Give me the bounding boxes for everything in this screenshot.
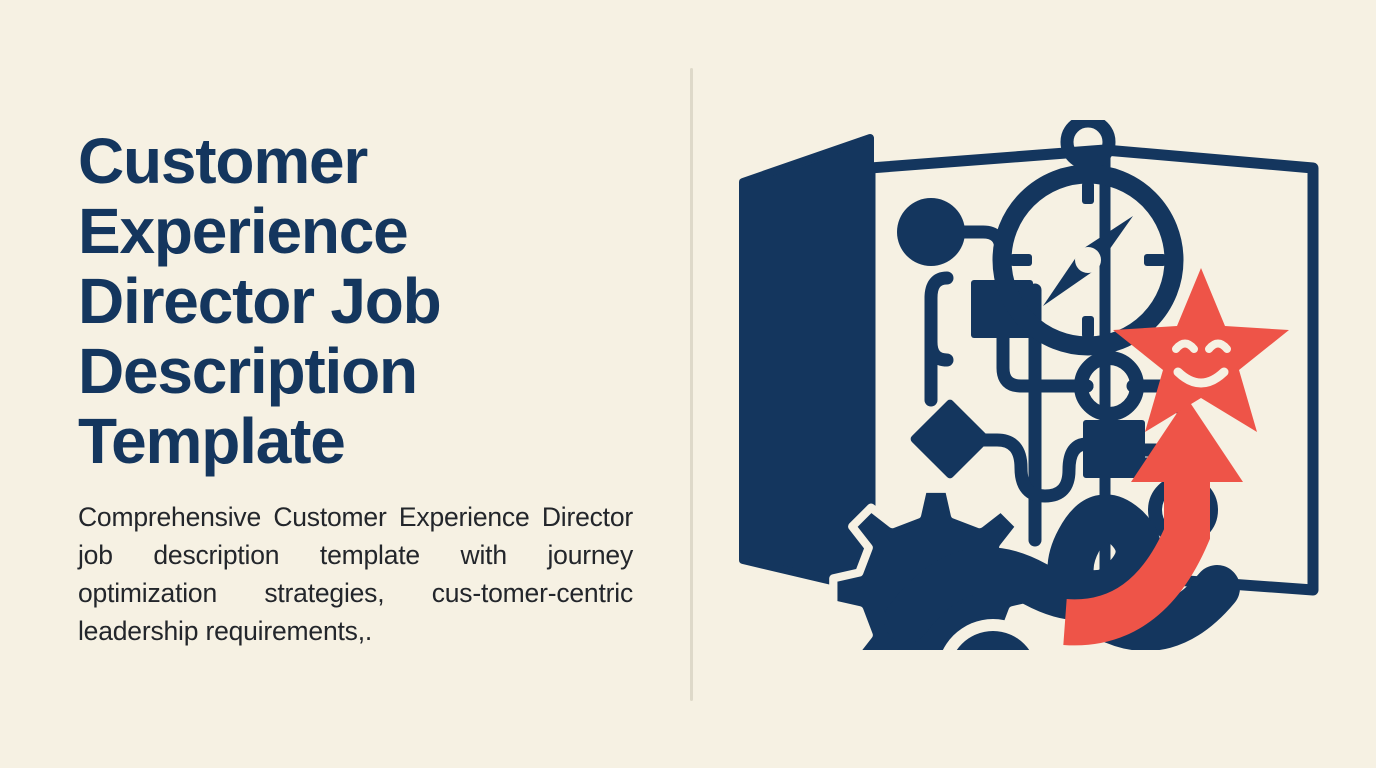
journey-node-diamond xyxy=(909,398,991,480)
page-title: Customer Experience Director Job Descrip… xyxy=(78,126,638,476)
journey-node-square-filled-lower xyxy=(1083,420,1145,478)
journey-node-circle-filled xyxy=(897,198,965,266)
customer-journey-map-illustration xyxy=(735,120,1355,650)
slide-canvas: Customer Experience Director Job Descrip… xyxy=(0,0,1376,768)
page-subtitle: Comprehensive Customer Experience Direct… xyxy=(78,498,633,650)
smiley-star-icon xyxy=(1113,268,1289,432)
hero-text-column: Customer Experience Director Job Descrip… xyxy=(78,126,638,650)
vertical-divider xyxy=(690,68,693,701)
